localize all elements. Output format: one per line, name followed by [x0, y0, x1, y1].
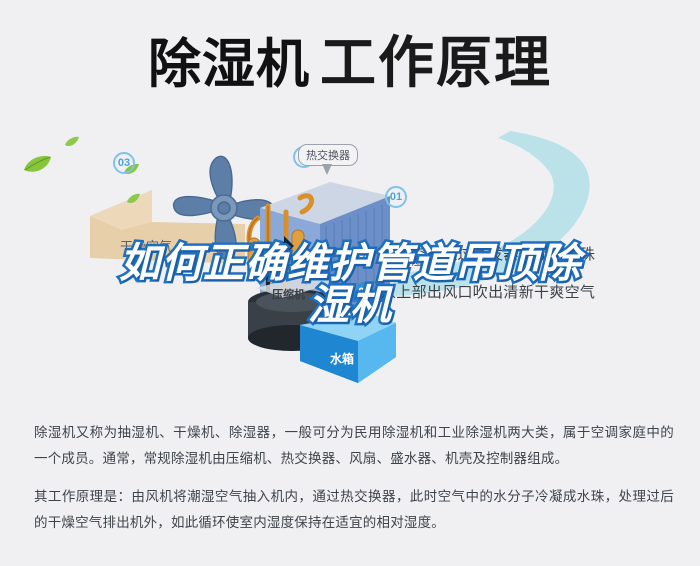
label-compressor: 压缩机 [272, 286, 305, 302]
callout-heat-exchanger: 热交换器 [298, 144, 358, 166]
label-dry-air: 干燥空气 [120, 236, 172, 255]
callout-stem-icon [322, 164, 332, 175]
page-title: 除湿机工作原理 [0, 18, 700, 99]
legend-badge-03: 03 [355, 282, 374, 301]
leaf-icon [126, 193, 141, 206]
body-paragraph-2: 其工作原理是：由风机将潮湿空气抽入机内，通过热交换器，此时空气中的水分子冷凝成水… [34, 484, 674, 536]
legend-text-02: 潮湿空气经过蒸发器冷凝成水珠 [381, 243, 595, 264]
body-copy: 除湿机又称为抽湿机、干燥机、除湿器，一般可分为民用除湿机和工业除湿机两大类，属于… [34, 420, 674, 536]
page-title-part1: 除湿机 [148, 34, 310, 95]
legend-text-03: 从上部出风口吹出清新干爽空气 [381, 281, 595, 302]
water-tank-icon [292, 311, 397, 386]
page-title-part2: 工作原理 [320, 31, 552, 94]
leaf-icon [64, 136, 80, 149]
legend-badge-02: 02 [355, 244, 374, 263]
legend-item: 02 潮湿空气经过蒸发器冷凝成水珠 [355, 243, 685, 264]
leaf-icon [22, 154, 52, 176]
body-paragraph-1: 除湿机又称为抽湿机、干燥机、除湿器，一般可分为民用除湿机和工业除湿机两大类，属于… [34, 420, 674, 472]
legend-list: 02 潮湿空气经过蒸发器冷凝成水珠 03 从上部出风口吹出清新干爽空气 [355, 243, 685, 319]
diagram-marker-03: 03 [113, 152, 135, 174]
legend-item: 03 从上部出风口吹出清新干爽空气 [355, 281, 685, 302]
diagram-marker-01: 01 [385, 186, 407, 208]
label-water-tank: 水箱 [330, 350, 354, 367]
